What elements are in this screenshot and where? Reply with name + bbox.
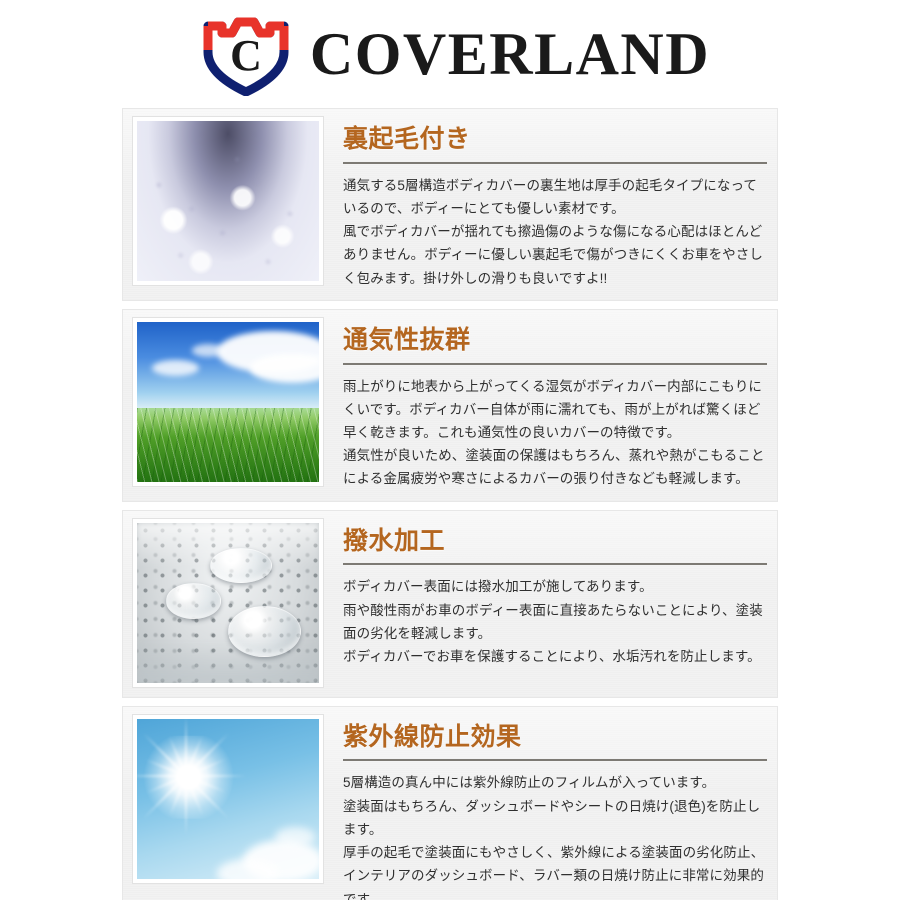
product-feature-page: C COVERLAND 裏起毛付き 通気する5層構造ボディカバーの裏生地は厚手の… — [0, 0, 900, 900]
feature-description: 通気する5層構造ボディカバーの裏生地は厚手の起毛タイプになっているので、ボディー… — [343, 174, 767, 290]
feature-panel-uv-protection: 紫外線防止効果 5層構造の真ん中には紫外線防止のフィルムが入っています。 塗装面… — [122, 706, 778, 900]
svg-text:C: C — [230, 31, 262, 80]
feature-title: 紫外線防止効果 — [343, 723, 767, 758]
brand-header: C COVERLAND — [0, 0, 900, 108]
fleece-lining-photo — [133, 117, 323, 285]
sun-sky-photo — [133, 715, 323, 883]
feature-paragraph: ボディカバーでお車を保護することにより、水垢汚れを防止します。 — [343, 645, 767, 668]
feature-paragraph: 風でボディカバーが揺れても擦過傷のような傷になる心配はほとんどありません。ボディ… — [343, 220, 767, 290]
feature-title: 通気性抜群 — [343, 326, 767, 361]
title-divider — [343, 563, 767, 565]
title-divider — [343, 759, 767, 761]
feature-description: 5層構造の真ん中には紫外線防止のフィルムが入っています。 塗装面はもちろん、ダッ… — [343, 771, 767, 900]
title-divider — [343, 363, 767, 365]
feature-description: ボディカバー表面には撥水加工が施してあります。 雨や酸性雨がお車のボディー表面に… — [343, 575, 767, 668]
feature-paragraph: 雨や酸性雨がお車のボディー表面に直接あたらないことにより、塗装面の劣化を軽減しま… — [343, 599, 767, 645]
feature-body: 撥水加工 ボディカバー表面には撥水加工が施してあります。 雨や酸性雨がお車のボデ… — [323, 519, 767, 669]
shield-c-icon: C — [198, 12, 294, 96]
feature-paragraph: ボディカバー表面には撥水加工が施してあります。 — [343, 575, 767, 598]
feature-panel-water-repellent: 撥水加工 ボディカバー表面には撥水加工が施してあります。 雨や酸性雨がお車のボデ… — [122, 510, 778, 698]
feature-paragraph: 厚手の起毛で塗装面にもやさしく、紫外線による塗装面の劣化防止、インテリアのダッシ… — [343, 841, 767, 900]
feature-title: 裏起毛付き — [343, 125, 767, 160]
brand-wordmark: COVERLAND — [310, 24, 710, 84]
feature-body: 紫外線防止効果 5層構造の真ん中には紫外線防止のフィルムが入っています。 塗装面… — [323, 715, 767, 900]
title-divider — [343, 162, 767, 164]
feature-panel-fleece-lining: 裏起毛付き 通気する5層構造ボディカバーの裏生地は厚手の起毛タイプになっているの… — [122, 108, 778, 301]
feature-description: 雨上がりに地表から上がってくる湿気がボディカバー内部にこもりにくいです。ボディカ… — [343, 375, 767, 491]
feature-paragraph: 雨上がりに地表から上がってくる湿気がボディカバー内部にこもりにくいです。ボディカ… — [343, 375, 767, 445]
water-beads-fabric-photo — [133, 519, 323, 687]
feature-title: 撥水加工 — [343, 527, 767, 562]
feature-body: 通気性抜群 雨上がりに地表から上がってくる湿気がボディカバー内部にこもりにくいで… — [323, 318, 767, 491]
feature-paragraph: 塗装面はもちろん、ダッシュボードやシートの日焼け(退色)を防止します。 — [343, 795, 767, 841]
feature-paragraph: 通気性が良いため、塗装面の保護はもちろん、蒸れや熱がこもることによる金属疲労や寒… — [343, 444, 767, 490]
feature-panel-list: 裏起毛付き 通気する5層構造ボディカバーの裏生地は厚手の起毛タイプになっているの… — [122, 108, 778, 900]
grass-field-sky-photo — [133, 318, 323, 486]
feature-body: 裏起毛付き 通気する5層構造ボディカバーの裏生地は厚手の起毛タイプになっているの… — [323, 117, 767, 290]
feature-panel-breathability: 通気性抜群 雨上がりに地表から上がってくる湿気がボディカバー内部にこもりにくいで… — [122, 309, 778, 502]
feature-paragraph: 通気する5層構造ボディカバーの裏生地は厚手の起毛タイプになっているので、ボディー… — [343, 174, 767, 220]
feature-paragraph: 5層構造の真ん中には紫外線防止のフィルムが入っています。 — [343, 771, 767, 794]
